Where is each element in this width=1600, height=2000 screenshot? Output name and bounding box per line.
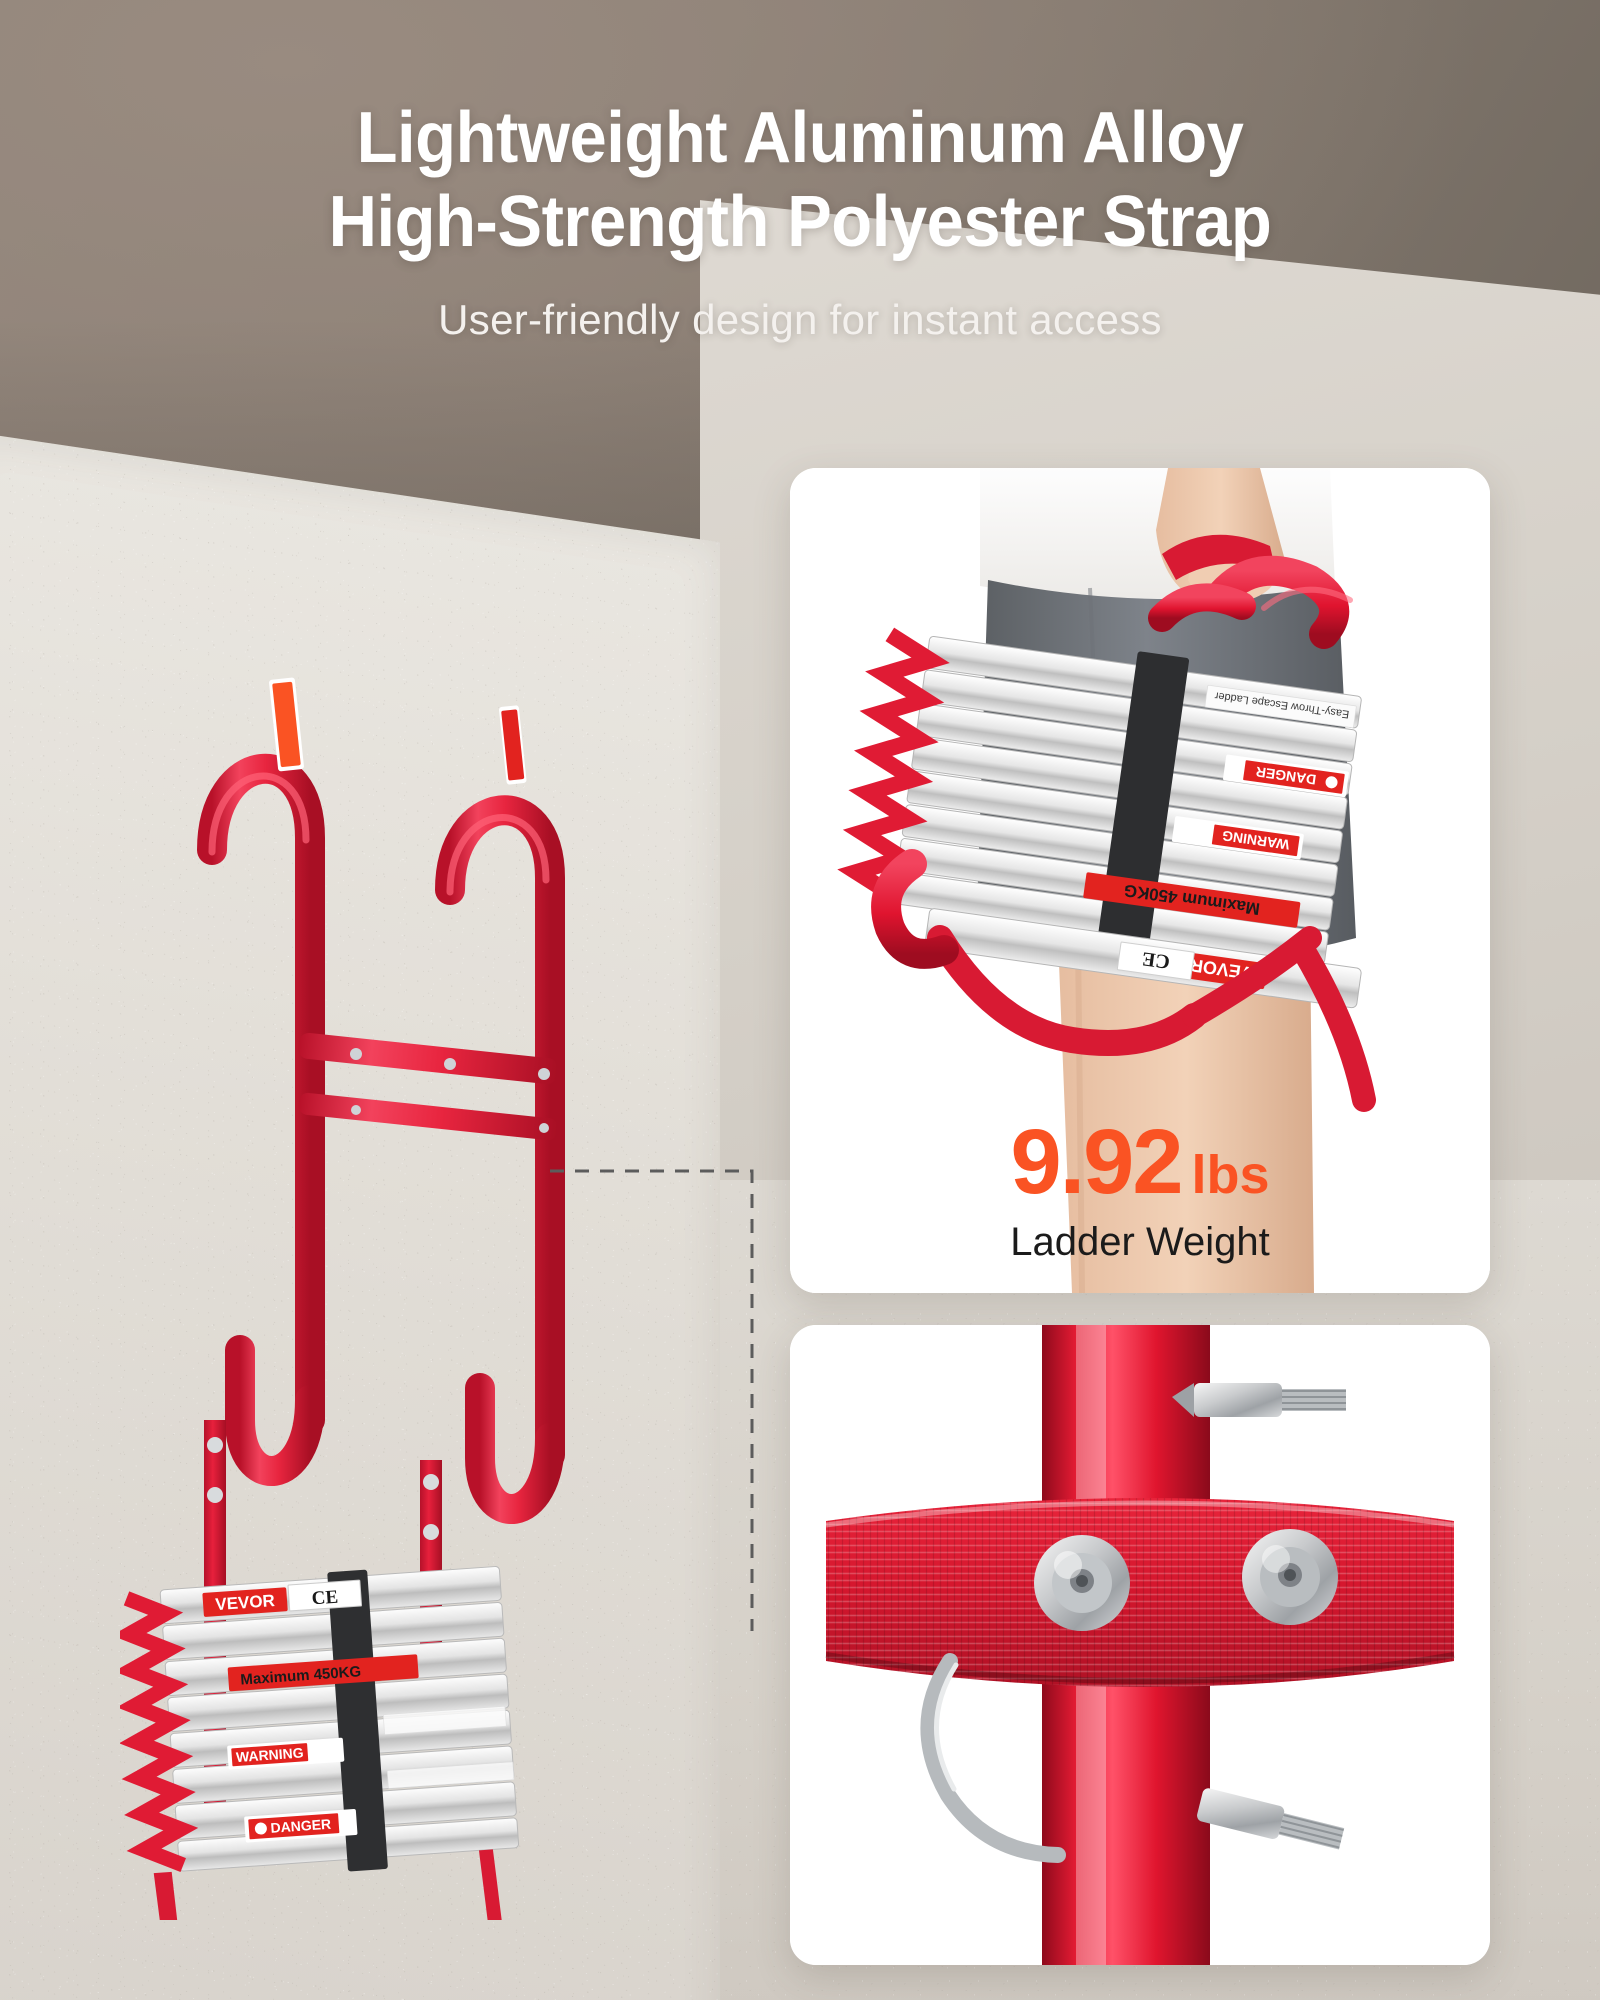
polyester-strap [826, 1498, 1454, 1687]
weight-value: 9.92 [1010, 1116, 1181, 1208]
subheadline: User-friendly design for instant access [0, 296, 1600, 344]
ladder-hooks [180, 677, 559, 1509]
svg-text:CE: CE [1141, 947, 1172, 973]
strap-rivet-card [790, 1325, 1490, 1965]
weight-callout: 9.92 lbs Ladder Weight [790, 1116, 1490, 1265]
rivet-right [1242, 1529, 1338, 1625]
weight-caption: Ladder Weight [790, 1220, 1490, 1265]
weight-unit: lbs [1192, 1148, 1270, 1202]
strap-rivet-closeup-photo [790, 1325, 1490, 1965]
headline-line-2: High-Strength Polyester Strap [56, 180, 1544, 264]
product-banner: Lightweight Aluminum Alloy High-Strength… [0, 0, 1600, 2000]
header-block: Lightweight Aluminum Alloy High-Strength… [0, 96, 1600, 344]
escape-ladder-product: VEVOR CE Maximum 450KG WARNING DANGER [120, 420, 640, 1920]
folded-rung-stack: VEVOR CE Maximum 450KG WARNING DANGER [120, 1560, 529, 1920]
label-ce-mark: CE [288, 1580, 362, 1611]
headline-line-1: Lightweight Aluminum Alloy [56, 96, 1544, 180]
carrying-photo-card: Easy-Throw Escape Ladder DANGER WARNING … [790, 468, 1490, 1293]
svg-text:CE: CE [311, 1587, 339, 1610]
rivet-left [1034, 1535, 1130, 1631]
